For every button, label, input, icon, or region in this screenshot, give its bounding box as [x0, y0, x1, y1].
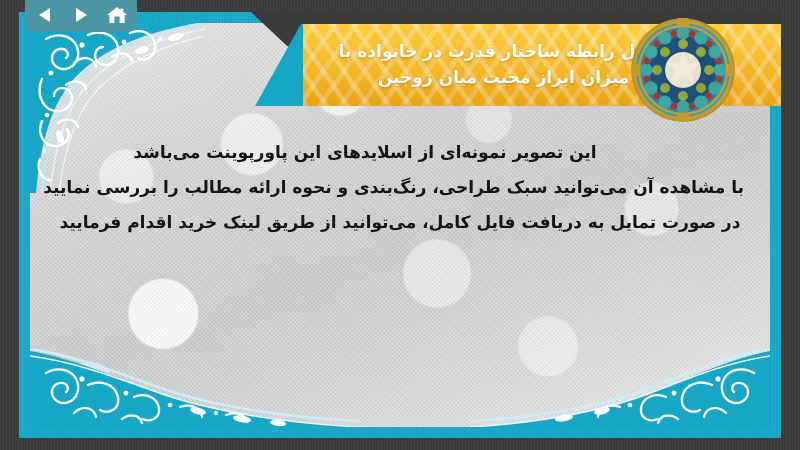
presentation-slide: این تصویر نمونه‌ای از اسلایدهای این پاور… — [19, 12, 781, 438]
body-line-1: این تصویر نمونه‌ای از اسلایدهای این پاور… — [56, 141, 674, 167]
previous-slide-button[interactable] — [34, 4, 56, 26]
islamic-mandala-medallion-icon — [631, 18, 735, 122]
triangle-left-icon — [35, 5, 55, 25]
triangle-right-icon — [71, 5, 91, 25]
arabesque-corner-ornament-icon — [470, 349, 770, 427]
navigation-toolbar — [25, 0, 137, 32]
home-button[interactable] — [106, 4, 128, 26]
slide-body-text: این تصویر نمونه‌ای از اسلایدهای این پاور… — [30, 141, 770, 245]
home-icon — [106, 5, 128, 25]
arabesque-corner-ornament-icon — [30, 349, 360, 427]
body-line-3: در صورت تمایل به دریافت فایل کامل، می‌تو… — [56, 211, 744, 237]
slide-viewer: این تصویر نمونه‌ای از اسلایدهای این پاور… — [0, 0, 800, 450]
body-line-2: با مشاهده آن می‌توانید سبک طراحی، رنگ‌بن… — [56, 176, 744, 202]
next-slide-button[interactable] — [70, 4, 92, 26]
